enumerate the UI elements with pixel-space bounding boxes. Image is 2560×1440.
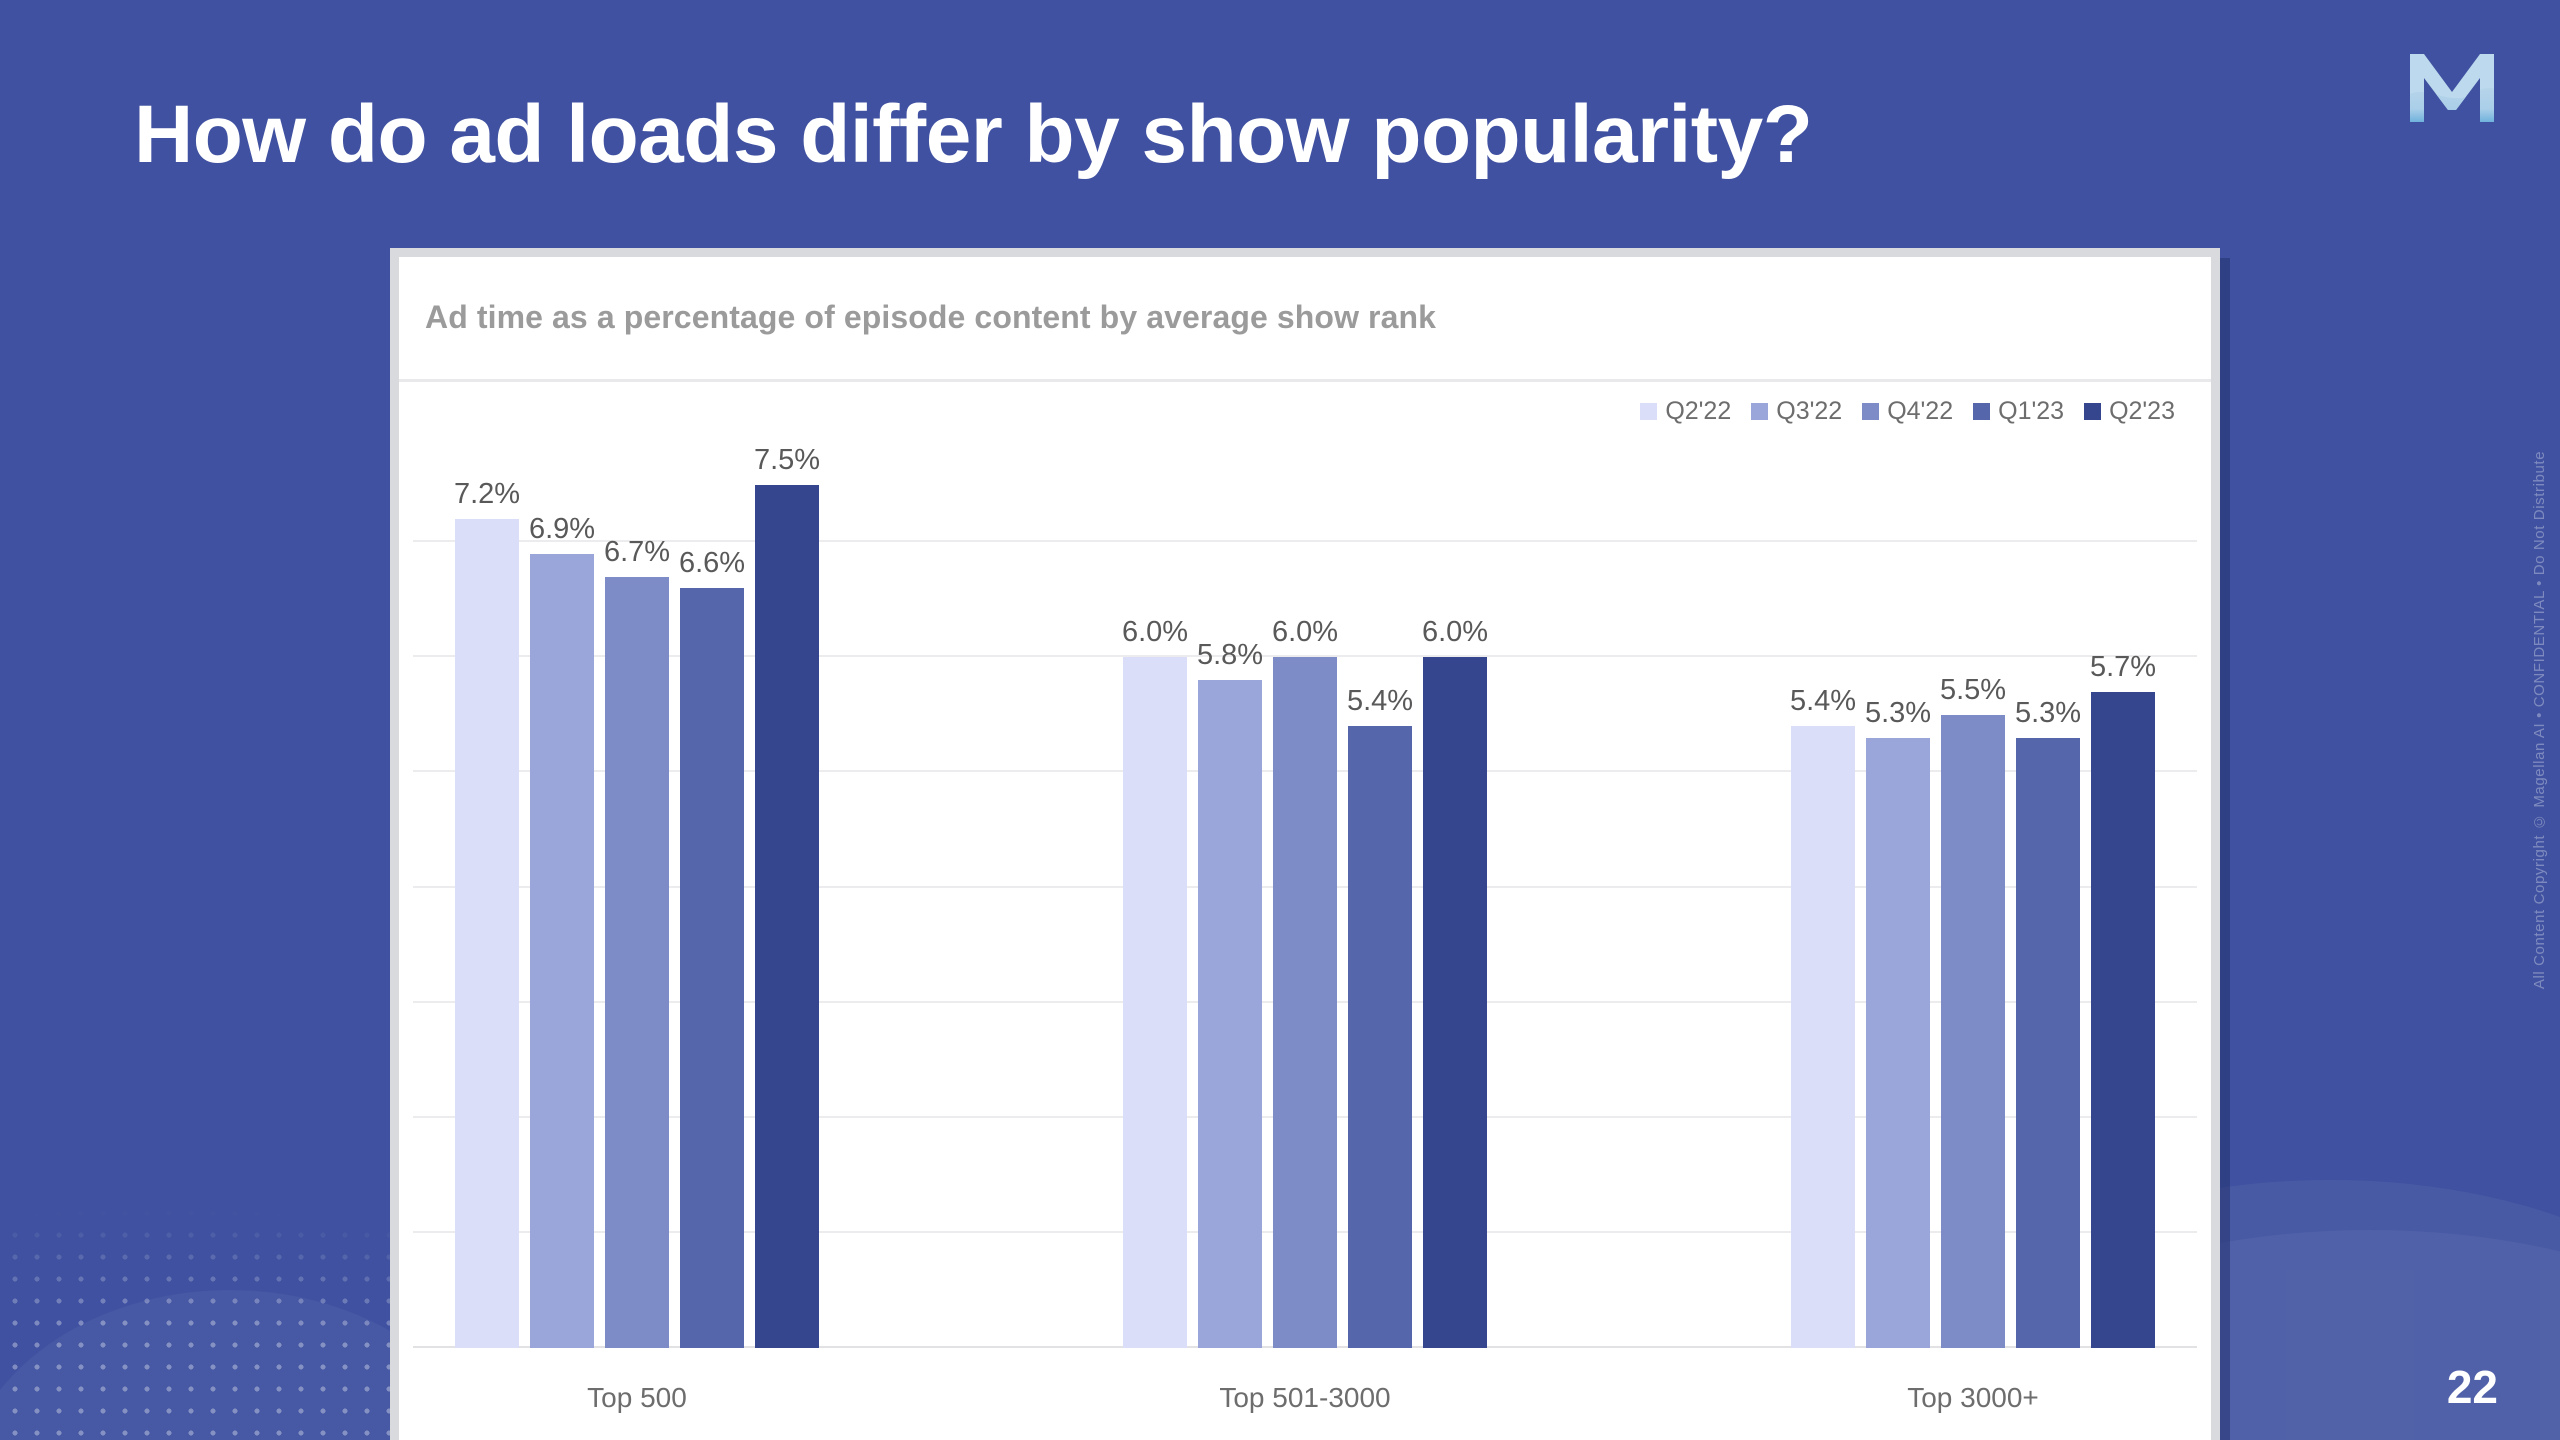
bar[interactable] — [2091, 692, 2155, 1348]
chart-legend: Q2'22Q3'22Q4'22Q1'23Q2'23 — [1640, 397, 2175, 426]
bar-value-label: 5.4% — [1790, 685, 1856, 718]
bar-value-label: 6.0% — [1122, 616, 1188, 649]
legend-item-Q123[interactable]: Q1'23 — [1973, 397, 2064, 426]
legend-swatch-icon — [1640, 403, 1657, 420]
bar[interactable] — [1123, 657, 1187, 1348]
category-label: Top 501-3000 — [1123, 1382, 1487, 1414]
confidential-notice: All Content Copyright © Magellan AI • CO… — [2531, 451, 2548, 989]
legend-label: Q2'23 — [2109, 397, 2175, 426]
chart-bar-groups: 7.2%6.9%6.7%6.6%7.5%6.0%5.8%6.0%5.4%6.0%… — [413, 427, 2197, 1348]
legend-item-Q222[interactable]: Q2'22 — [1640, 397, 1731, 426]
bar-value-label: 5.5% — [1940, 674, 2006, 707]
bar-slot: 6.0% — [1123, 427, 1187, 1348]
bar[interactable] — [1423, 657, 1487, 1348]
bar-slot: 5.5% — [1941, 427, 2005, 1348]
bar-slot: 5.3% — [2016, 427, 2080, 1348]
magellan-m-logo — [2406, 48, 2498, 126]
legend-label: Q1'23 — [1998, 397, 2064, 426]
bar-slot: 6.6% — [680, 427, 744, 1348]
bar[interactable] — [605, 577, 669, 1348]
category-label: Top 3000+ — [1791, 1382, 2155, 1414]
bar[interactable] — [1348, 726, 1412, 1348]
bar-group: 5.4%5.3%5.5%5.3%5.7% — [1791, 427, 2155, 1348]
legend-swatch-icon — [1862, 403, 1879, 420]
bar[interactable] — [1198, 680, 1262, 1348]
chart-header-divider — [399, 379, 2211, 382]
slide-title: How do ad loads differ by show popularit… — [134, 92, 2284, 178]
bar-value-label: 5.4% — [1347, 685, 1413, 718]
bar[interactable] — [2016, 738, 2080, 1348]
legend-swatch-icon — [1751, 403, 1768, 420]
legend-item-Q422[interactable]: Q4'22 — [1862, 397, 1953, 426]
bar-slot: 6.0% — [1423, 427, 1487, 1348]
bar-value-label: 6.6% — [679, 547, 745, 580]
bar[interactable] — [455, 519, 519, 1348]
bar-slot: 6.7% — [605, 427, 669, 1348]
bar-value-label: 6.9% — [529, 513, 595, 546]
bar-group: 7.2%6.9%6.7%6.6%7.5% — [455, 427, 819, 1348]
bar-slot: 5.4% — [1348, 427, 1412, 1348]
bar[interactable] — [1791, 726, 1855, 1348]
bar-slot: 7.2% — [455, 427, 519, 1348]
bar-value-label: 6.0% — [1272, 616, 1338, 649]
legend-swatch-icon — [1973, 403, 1990, 420]
bar-slot: 5.3% — [1866, 427, 1930, 1348]
bar-value-label: 7.5% — [754, 444, 820, 477]
bar-slot: 5.7% — [2091, 427, 2155, 1348]
legend-swatch-icon — [2084, 403, 2101, 420]
legend-label: Q2'22 — [1665, 397, 1731, 426]
bar[interactable] — [530, 554, 594, 1348]
bar-value-label: 5.3% — [2015, 697, 2081, 730]
bar[interactable] — [1273, 657, 1337, 1348]
page-number: 22 — [2447, 1360, 2498, 1414]
legend-label: Q3'22 — [1776, 397, 1842, 426]
legend-label: Q4'22 — [1887, 397, 1953, 426]
bar-value-label: 5.3% — [1865, 697, 1931, 730]
bar[interactable] — [1941, 715, 2005, 1348]
bar[interactable] — [755, 485, 819, 1348]
slide-canvas: How do ad loads differ by show popularit… — [0, 0, 2560, 1440]
bar-slot: 5.4% — [1791, 427, 1855, 1348]
bar[interactable] — [680, 588, 744, 1348]
bar-value-label: 7.2% — [454, 478, 520, 511]
chart-card: Ad time as a percentage of episode conte… — [390, 248, 2220, 1440]
bar-value-label: 6.0% — [1422, 616, 1488, 649]
bar[interactable] — [1866, 738, 1930, 1348]
bar-value-label: 5.7% — [2090, 651, 2156, 684]
bar-slot: 6.9% — [530, 427, 594, 1348]
bar-group: 6.0%5.8%6.0%5.4%6.0% — [1123, 427, 1487, 1348]
chart-title: Ad time as a percentage of episode conte… — [425, 299, 1436, 336]
bar-value-label: 5.8% — [1197, 639, 1263, 672]
bar-slot: 7.5% — [755, 427, 819, 1348]
chart-plot-area: 7.2%6.9%6.7%6.6%7.5%6.0%5.8%6.0%5.4%6.0%… — [413, 427, 2197, 1348]
bar-slot: 6.0% — [1273, 427, 1337, 1348]
chart-category-labels: Top 500Top 501-3000Top 3000+ — [413, 1382, 2197, 1414]
legend-item-Q322[interactable]: Q3'22 — [1751, 397, 1842, 426]
category-label: Top 500 — [455, 1382, 819, 1414]
bar-slot: 5.8% — [1198, 427, 1262, 1348]
legend-item-Q223[interactable]: Q2'23 — [2084, 397, 2175, 426]
bar-value-label: 6.7% — [604, 536, 670, 569]
